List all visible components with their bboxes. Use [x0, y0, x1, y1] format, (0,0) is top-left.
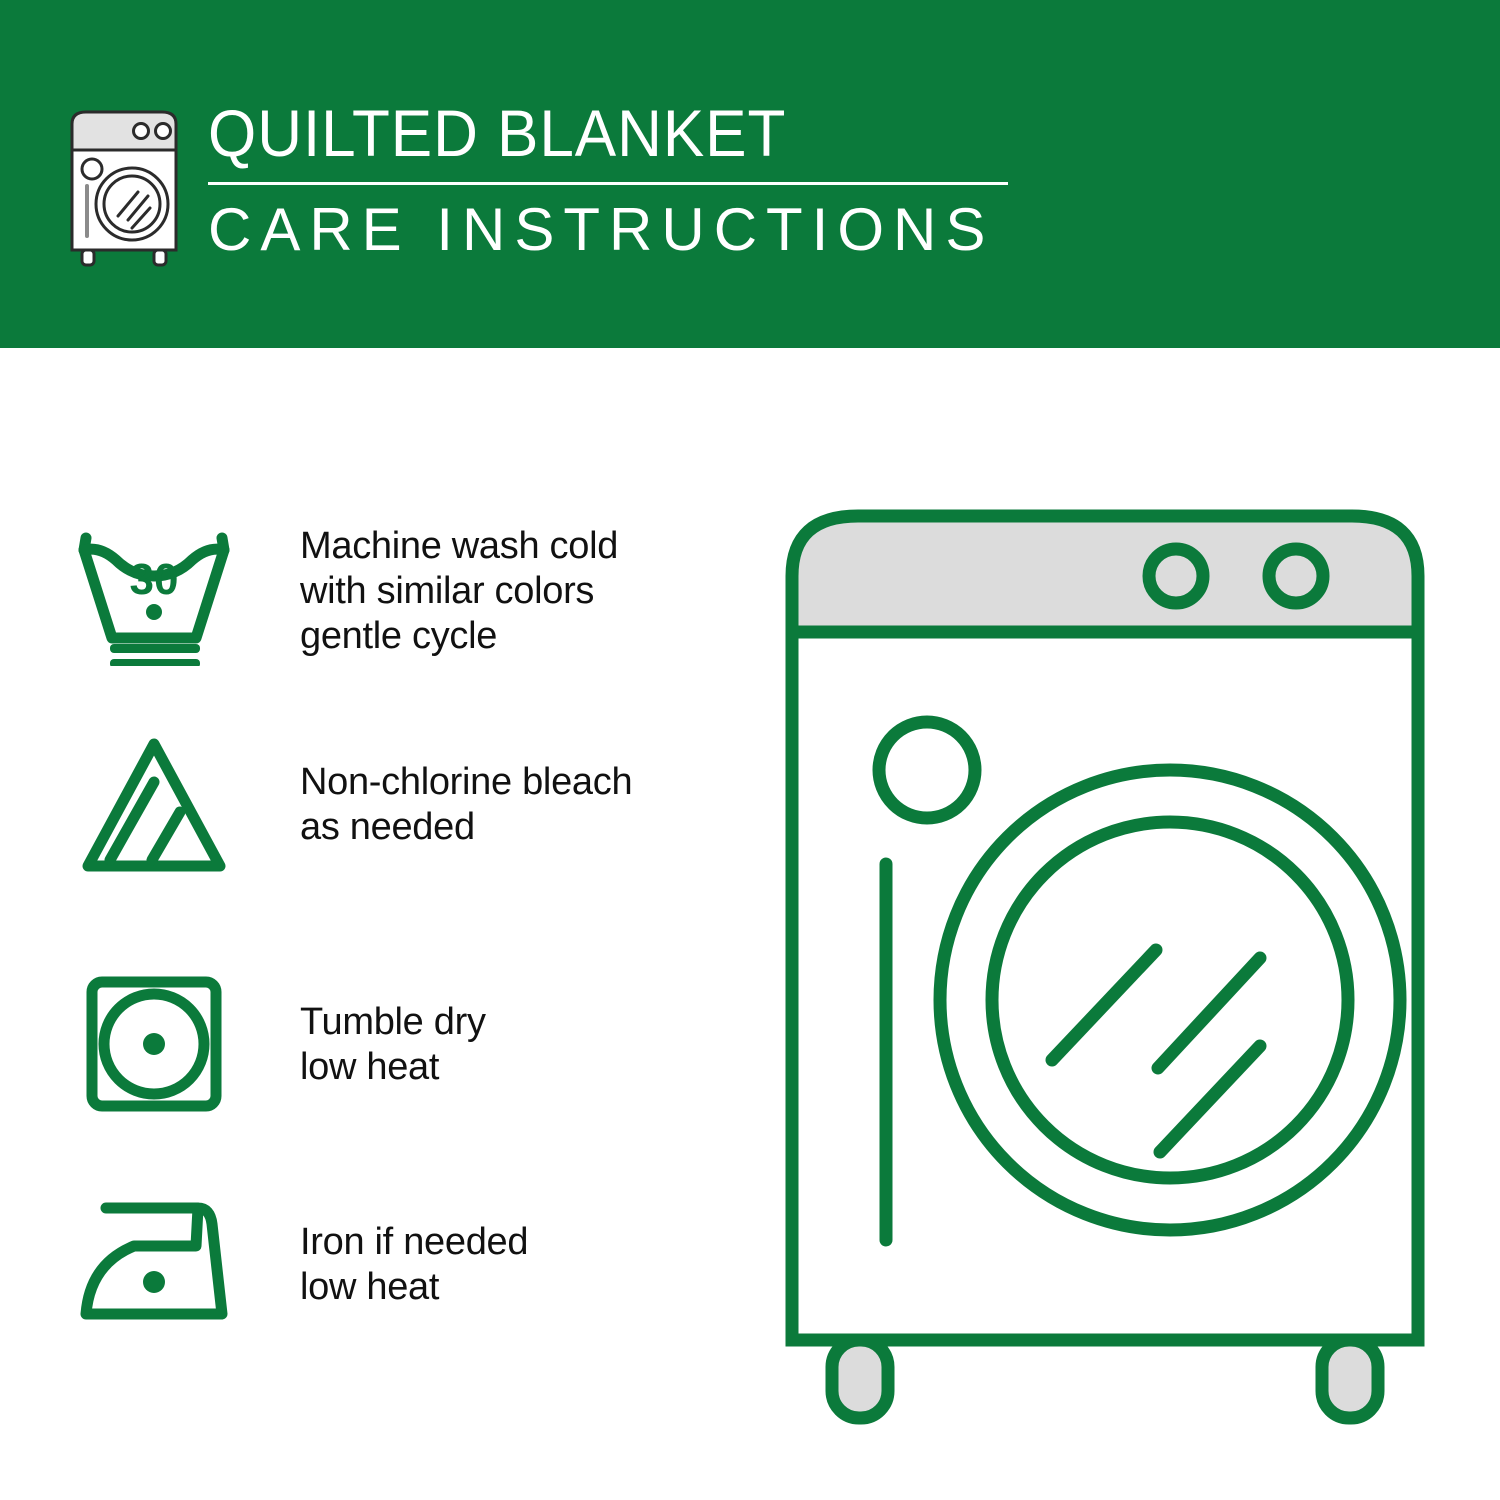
leg-left [832, 1340, 888, 1418]
title-block: QUILTED BLANKET CARE INSTRUCTIONS [208, 98, 1008, 263]
page-subtitle: CARE INSTRUCTIONS [208, 197, 1008, 263]
care-item-label: Non-chlorine bleach as needed [300, 760, 632, 850]
care-item-bleach: Non-chlorine bleach as needed [70, 730, 710, 880]
title-divider [208, 182, 1008, 185]
care-item-iron: Iron if needed low heat [70, 1190, 710, 1340]
care-item-label: Iron if needed low heat [300, 1220, 528, 1310]
leg-right [1322, 1340, 1378, 1418]
wash-tub-30-gentle-icon: 30 [70, 516, 238, 666]
washing-machine-logo-icon [62, 104, 186, 269]
wash-temperature-label: 30 [130, 555, 179, 604]
care-item-machine-wash: 30 Machine wash cold with similar colors… [70, 516, 710, 666]
header-content: QUILTED BLANKET CARE INSTRUCTIONS [62, 98, 1008, 269]
iron-low-heat-icon [70, 1190, 238, 1340]
care-item-label: Machine wash cold with similar colors ge… [300, 524, 618, 659]
page-title: QUILTED BLANKET [208, 98, 960, 168]
non-chlorine-bleach-triangle-icon [70, 730, 238, 880]
care-instruction-list: 30 Machine wash cold with similar colors… [0, 348, 730, 1500]
front-load-washing-machine-illustration [740, 480, 1470, 1430]
care-item-label: Tumble dry low heat [300, 1000, 486, 1090]
header-banner: QUILTED BLANKET CARE INSTRUCTIONS [0, 0, 1500, 348]
care-item-tumble-dry: Tumble dry low heat [70, 970, 710, 1120]
tumble-dry-low-heat-icon [70, 970, 238, 1120]
